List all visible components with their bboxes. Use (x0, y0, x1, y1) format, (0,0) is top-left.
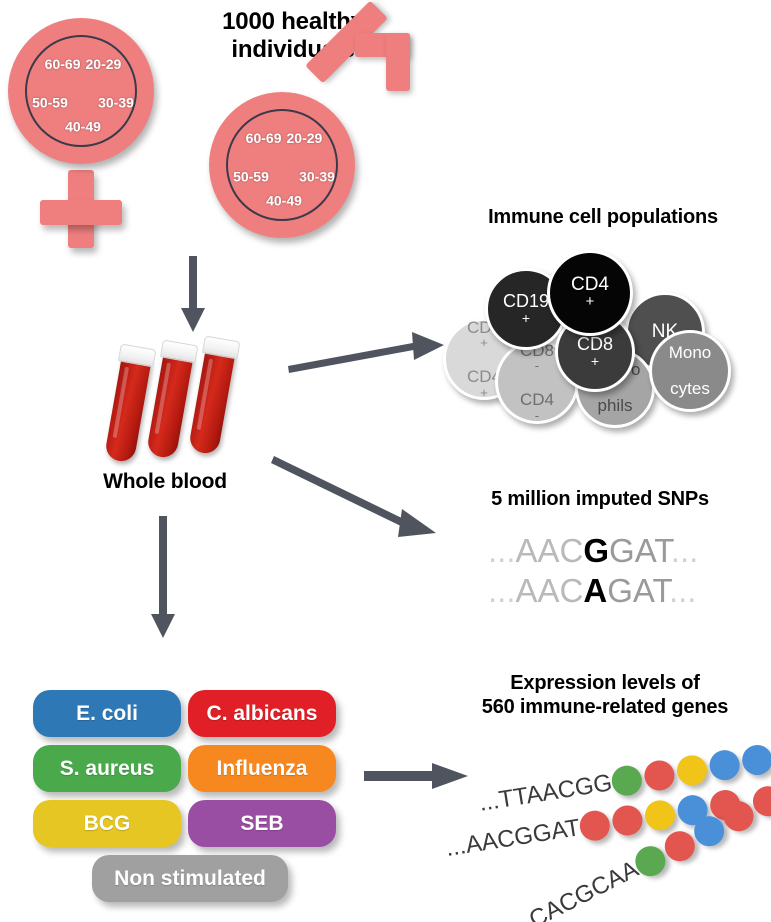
immune-cell-label: CD4+ (571, 275, 609, 310)
strand-bead (642, 758, 676, 792)
cell-sup2: - (520, 409, 554, 423)
cell-sup1: + (577, 354, 613, 369)
cell-sup1: + (467, 336, 501, 350)
immune-cell-cd4pos: CD4+ (547, 250, 633, 336)
strand-bead (610, 763, 644, 797)
expression-strands: ...TTAACGG ...AACGGAT ...CACGCAA (0, 0, 771, 922)
immune-cell-label: CD19+ (503, 292, 549, 325)
immune-cell-label: Mono cytes (669, 344, 712, 397)
cell-sup1: + (571, 295, 609, 310)
cell-line2: CD4 (520, 391, 554, 409)
expression-strand: ...TTAACGG (609, 741, 771, 799)
cell-sup1: + (503, 311, 549, 326)
figure-canvas: 1000 healthy individuals 20-2930-3940-49… (0, 0, 771, 922)
strand-bead (610, 803, 644, 837)
cell-sup1: - (520, 359, 554, 373)
cell-line1: CD19 (503, 292, 549, 311)
strand-sequence: ...CACGCAA (507, 856, 643, 922)
strand-bead (675, 753, 709, 787)
cell-line1: CD4 (571, 275, 609, 295)
strand-bead (643, 798, 677, 832)
strand-bead (707, 748, 741, 782)
cell-line1: Mono (669, 344, 712, 362)
strand-bead (740, 743, 771, 777)
immune-cell-label: CD8+ (577, 335, 613, 368)
immune-cell-label: CD8- CD4- (520, 342, 554, 423)
cell-line2: cytes (669, 380, 712, 398)
strand-sequence: ...AACGGAT (444, 814, 582, 863)
cell-line1: CD8 (577, 335, 613, 354)
cell-line2: phils (589, 397, 640, 415)
strand-bead (578, 808, 612, 842)
immune-cell-monocytes: Mono cytes (649, 330, 731, 412)
